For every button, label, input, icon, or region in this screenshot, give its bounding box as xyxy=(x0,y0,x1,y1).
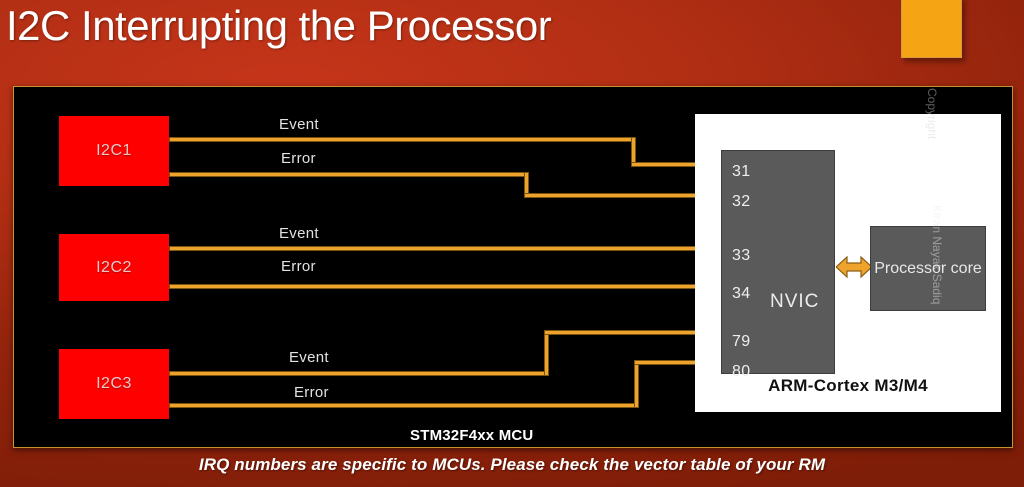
signal-label-i2c1-error: Error xyxy=(281,150,316,167)
peripheral-block-i2c3[interactable]: I2C3 xyxy=(59,349,169,419)
peripheral-block-i2c1[interactable]: I2C1 xyxy=(59,116,169,186)
signal-line-i2c1-error-a xyxy=(169,172,529,177)
accent-rectangle xyxy=(901,0,962,58)
peripheral-label: I2C2 xyxy=(96,259,132,277)
footer-caption: IRQ numbers are specific to MCUs. Please… xyxy=(0,455,1024,475)
peripheral-label: I2C1 xyxy=(96,142,132,160)
signal-line-i2c1-event-a xyxy=(169,137,636,142)
signal-label-i2c2-event: Event xyxy=(279,225,319,242)
irq-number-33: 33 xyxy=(732,247,751,265)
mcu-label: STM32F4xx MCU xyxy=(410,427,533,444)
signal-line-i2c3-event-step xyxy=(544,330,549,376)
page-title: I2C Interrupting the Processor xyxy=(6,2,551,50)
signal-label-i2c1-event: Event xyxy=(279,116,319,133)
processor-core-label: Processor core xyxy=(874,259,982,279)
slide-canvas: I2C Interrupting the Processor I2C1 Even… xyxy=(0,0,1024,487)
cortex-panel: 31 32 33 34 79 80 NVIC Processor core AR… xyxy=(695,114,1001,412)
processor-core-block[interactable]: Processor core xyxy=(870,226,986,311)
irq-number-31: 31 xyxy=(732,163,751,181)
irq-number-79: 79 xyxy=(732,333,751,351)
signal-line-i2c1-error-b xyxy=(524,193,711,198)
signal-label-i2c2-error: Error xyxy=(281,258,316,275)
bidirectional-arrow-icon xyxy=(836,254,872,280)
signal-line-i2c2-error xyxy=(169,284,711,289)
signal-line-i2c3-error-a xyxy=(169,403,639,408)
irq-number-34: 34 xyxy=(732,285,751,303)
nvic-block[interactable]: 31 32 33 34 79 80 NVIC xyxy=(721,150,835,374)
cortex-panel-label: ARM-Cortex M3/M4 xyxy=(695,376,1001,396)
signal-line-i2c3-event-a xyxy=(169,371,549,376)
signal-label-i2c3-event: Event xyxy=(289,349,329,366)
signal-line-i2c2-event xyxy=(169,246,711,251)
signal-label-i2c3-error: Error xyxy=(294,384,329,401)
signal-line-i2c3-event-b xyxy=(544,330,711,335)
signal-line-i2c3-error-step xyxy=(634,360,639,408)
peripheral-label: I2C3 xyxy=(96,375,132,393)
nvic-label: NVIC xyxy=(770,291,819,313)
peripheral-block-i2c2[interactable]: I2C2 xyxy=(59,234,169,301)
irq-number-32: 32 xyxy=(732,193,751,211)
